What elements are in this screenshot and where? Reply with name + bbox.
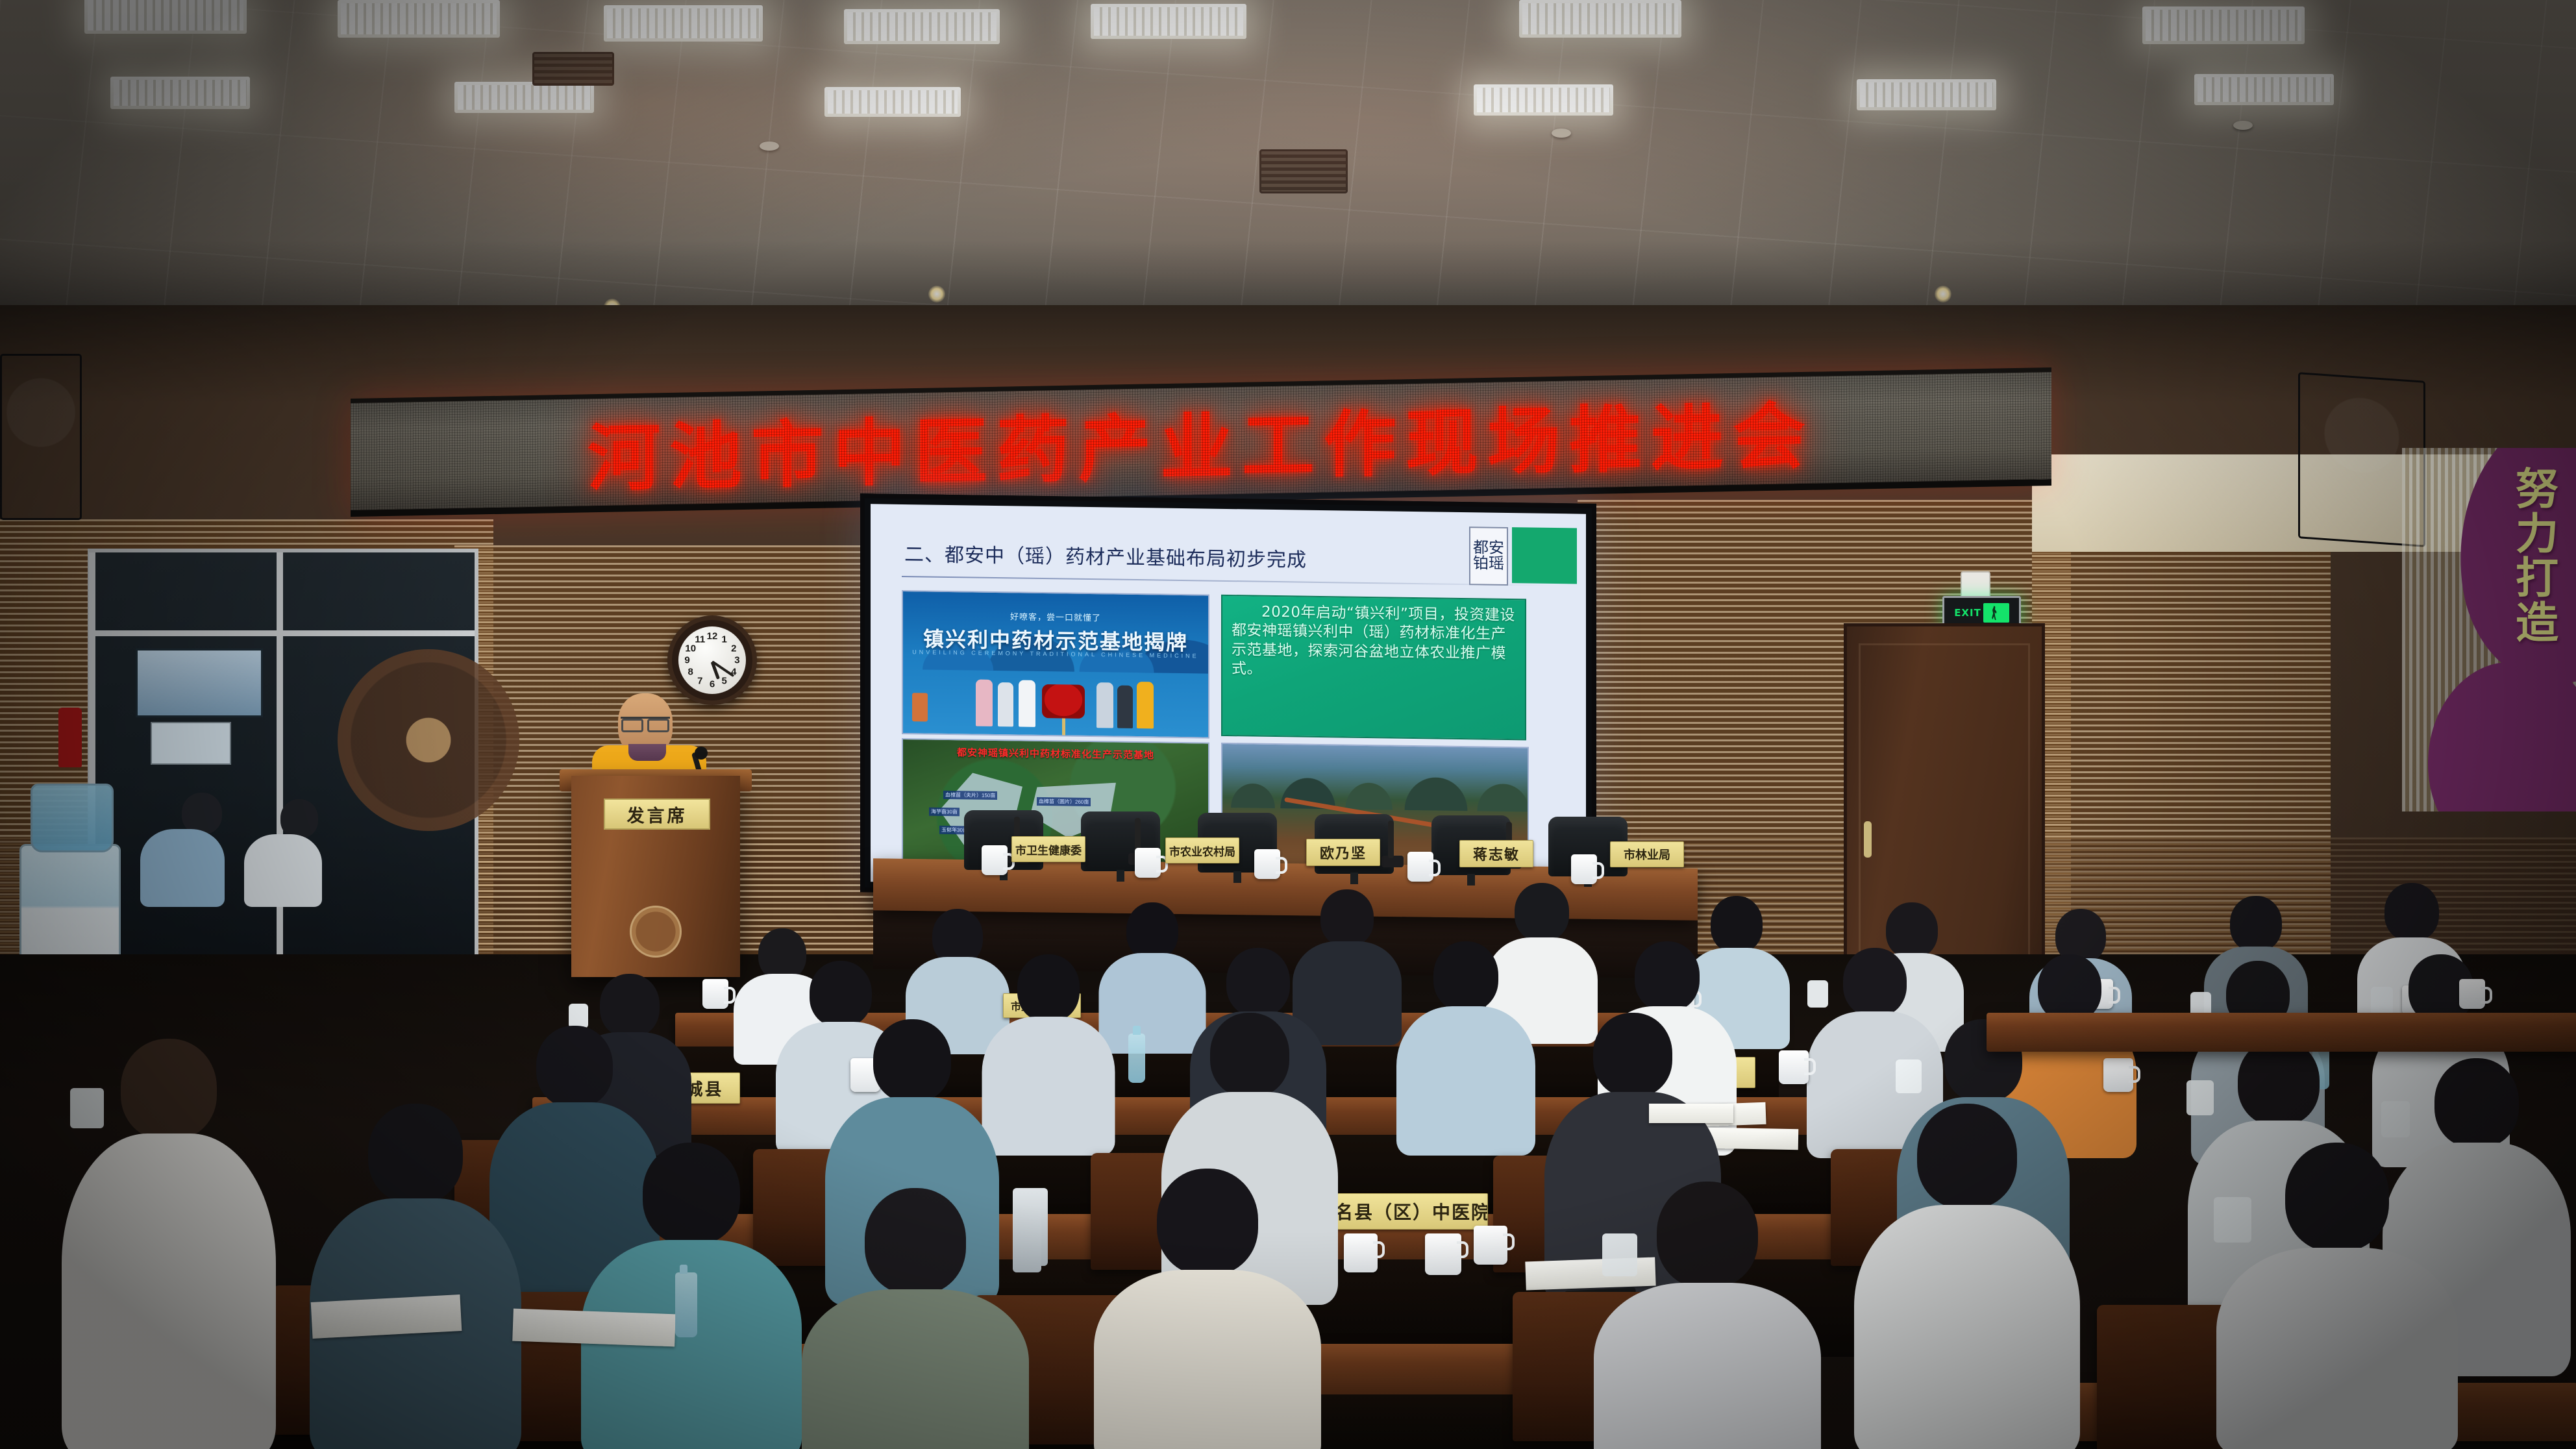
wall-speaker-left	[0, 354, 82, 520]
slide-title: 二、都安中（瑶）药材产业基础布局初步完成	[904, 538, 1443, 575]
audience-mug	[2103, 1058, 2133, 1092]
led-banner-text: 河池市中医药产业工作现场推进会	[351, 373, 2051, 509]
ceremony-person	[1096, 682, 1113, 728]
person-head	[1657, 1182, 1758, 1288]
speaker-collar	[628, 744, 666, 761]
person-head	[873, 1019, 951, 1102]
clock-numeral: 2	[731, 643, 736, 654]
ceiling-light-panel	[338, 0, 500, 38]
head-table-mug	[1407, 852, 1433, 882]
face-mask	[1602, 1233, 1637, 1276]
person-body	[802, 1289, 1029, 1449]
person-head	[1515, 883, 1569, 941]
ceremony-plaque	[1042, 684, 1085, 719]
person-head	[1226, 948, 1290, 1017]
person-head	[1157, 1169, 1258, 1275]
slide-logo: 都安 铂瑶	[1469, 526, 1508, 586]
head-table-mug	[1254, 849, 1280, 879]
audience-mug	[2459, 979, 2485, 1009]
podium-sign: 发言席	[604, 799, 710, 830]
person-head	[2230, 896, 2282, 952]
person-head	[2238, 1039, 2320, 1126]
person-head	[1320, 889, 1374, 947]
head-table-nameplate: 欧乃坚	[1306, 839, 1380, 866]
banner-petal-shape	[2412, 650, 2576, 811]
running-man-icon	[1983, 603, 2009, 623]
ceremony-person	[1019, 680, 1035, 726]
audience-mug	[1344, 1233, 1378, 1272]
smoke-detector-icon	[2233, 121, 2253, 130]
ceiling-light-panel	[1519, 0, 1681, 38]
ceremony-person	[976, 680, 993, 726]
clock-numeral: 10	[685, 643, 696, 654]
person-head	[1210, 1013, 1289, 1097]
person-head	[1126, 902, 1178, 960]
map-tag: 海芋亩30亩	[929, 808, 960, 817]
person-head	[1017, 954, 1080, 1022]
wall-banner-right: 努力打造	[2402, 448, 2576, 811]
face-mask	[2381, 1101, 2410, 1137]
person-head	[280, 799, 318, 838]
head-table-nameplate: 市林业局	[1610, 841, 1684, 867]
person-body	[140, 829, 225, 907]
person-head	[2434, 1058, 2519, 1148]
clock-numeral: 11	[695, 634, 705, 645]
person-head	[1917, 1104, 2017, 1209]
person-head	[121, 1039, 217, 1140]
person-head	[182, 793, 222, 834]
person-head	[2285, 1143, 2389, 1252]
exit-sign-left-text: EXIT	[1954, 607, 1981, 619]
clock-numeral: 3	[734, 655, 739, 666]
wall-clock: 12 1 2 3 4 5 6 7 8 9 10 11	[667, 615, 757, 705]
clock-numeral: 5	[722, 676, 727, 687]
thermos-flask	[1013, 1188, 1041, 1272]
ceiling-light-panel	[454, 82, 594, 113]
smoke-detector-icon	[760, 142, 779, 151]
ceiling-light-panel	[84, 0, 247, 34]
face-mask	[2186, 1080, 2214, 1115]
audience-nameplate: 名县（区）中医院	[1337, 1193, 1488, 1230]
ceiling-light-panel	[1091, 4, 1246, 39]
audience-person-foreground	[65, 1039, 273, 1449]
person-body	[62, 1133, 276, 1449]
person-head	[643, 1143, 740, 1245]
wall-banner-text: 努力打造	[2507, 467, 2567, 646]
water-bottle	[1128, 1034, 1145, 1083]
audience-person-foreground	[1097, 1169, 1318, 1449]
head-table-mug	[1571, 854, 1597, 884]
clock-numeral: 1	[722, 634, 727, 645]
person-body	[982, 1017, 1115, 1156]
air-vent	[532, 52, 614, 86]
clock-face: 12 1 2 3 4 5 6 7 8 9 10 11	[678, 626, 746, 694]
podium-emblem	[630, 906, 682, 958]
ceiling-light-panel	[2142, 6, 2305, 44]
audience-paper	[1649, 1104, 1733, 1123]
podium-microphone-head	[695, 747, 708, 760]
audience-mug	[1474, 1226, 1507, 1265]
ceiling-light-panel	[1857, 79, 1996, 110]
clock-numeral: 7	[697, 676, 702, 687]
ceiling-light-panel	[110, 77, 250, 109]
person-head	[2384, 883, 2439, 941]
person-head	[1843, 948, 1907, 1017]
audience-mug	[1779, 1050, 1809, 1084]
clock-numeral: 12	[707, 630, 718, 641]
map-photo-label: 都安神瑶镇兴利中药材标准化生产示范基地	[903, 745, 1208, 763]
ceremony-podium	[912, 693, 928, 721]
conference-room-photo: 河池市中医药产业工作现场推进会 二、都安中（瑶）药材产业基础布局初步完成 都安 …	[0, 0, 2576, 1449]
clock-numeral: 9	[684, 655, 689, 666]
fire-extinguisher	[58, 708, 82, 767]
audience-paper	[512, 1309, 676, 1347]
face-mask	[70, 1088, 104, 1128]
face-mask	[1807, 980, 1828, 1008]
face-mask	[569, 1004, 588, 1028]
ceremony-person	[1117, 686, 1133, 728]
clock-numeral: 8	[688, 666, 693, 677]
glasses-icon	[621, 717, 670, 729]
audience-person-foreground	[312, 1104, 519, 1449]
person-head	[368, 1104, 463, 1204]
person-body	[1854, 1205, 2080, 1449]
clock-numeral: 6	[710, 679, 715, 690]
face-mask	[1896, 1059, 1922, 1093]
slide-green-callout: 2020年启动“镇兴利”项目，投资建设都安神瑶镇兴利中（瑶）药材标准化生产示范基…	[1221, 595, 1526, 741]
audience-mug	[702, 979, 728, 1009]
ceremony-person	[998, 682, 1013, 726]
person-head	[1433, 941, 1498, 1011]
ceremony-person	[1137, 682, 1154, 728]
slide-logo-bottom-text: 铂瑶	[1473, 556, 1504, 572]
head-table-mug	[982, 845, 1008, 875]
wall-notice-board	[151, 722, 231, 765]
person-body	[2216, 1248, 2458, 1449]
audience-person	[987, 954, 1110, 1156]
person-body	[1094, 1270, 1321, 1449]
person-head	[865, 1188, 966, 1294]
smoke-detector-icon	[1552, 129, 1571, 138]
wall-emblem-inner	[390, 701, 467, 779]
side-table-right	[1987, 1013, 2576, 1052]
audience-person-foreground	[2220, 1143, 2454, 1449]
air-vent	[1259, 149, 1348, 193]
booth-monitor	[136, 649, 263, 717]
head-table-nameplate: 市农业农村局	[1165, 837, 1239, 863]
ceiling-light-panel	[2194, 74, 2334, 105]
slide-green-callout-text: 2020年启动“镇兴利”项目，投资建设都安神瑶镇兴利中（瑶）药材标准化生产示范基…	[1232, 602, 1516, 683]
door-handle[interactable]	[1864, 821, 1872, 858]
slide-photo-ceremony: 好嘹客，尝一口就懂了 镇兴利中药材示范基地揭牌 UNVEILING CEREMO…	[902, 590, 1209, 739]
audience-mug	[1425, 1233, 1461, 1275]
ceiling-light-panel	[844, 9, 1000, 44]
head-table-mug	[1135, 848, 1161, 878]
ceiling-light-panel	[1474, 84, 1613, 116]
ceiling-light-panel	[604, 5, 763, 42]
booth-mullion	[92, 630, 475, 636]
microphone	[1388, 821, 1394, 858]
person-body	[244, 834, 322, 907]
audience-paper	[1707, 1128, 1799, 1150]
wall-socket	[1961, 571, 1990, 599]
person-head	[810, 961, 872, 1027]
head-table-nameplate: 市卫生健康委	[1011, 836, 1085, 862]
audience-person-foreground	[805, 1188, 1026, 1449]
audience-person-foreground	[1597, 1182, 1818, 1449]
face-mask	[2214, 1197, 2251, 1243]
slide-logo-green-block	[1512, 527, 1577, 584]
person-head	[1635, 941, 1700, 1011]
slide-title-rule	[902, 576, 1552, 586]
map-tag: 血樟苗（夫片）150亩	[943, 791, 997, 800]
map-tag: 血樟苗（圆片）260亩	[1037, 797, 1091, 806]
person-head	[1593, 1013, 1672, 1097]
ceiling-light-panel	[824, 87, 961, 117]
head-table-nameplate: 蒋志敏	[1459, 840, 1533, 867]
person-head	[536, 1026, 613, 1108]
water-bottle	[675, 1272, 697, 1337]
audience-person	[1402, 941, 1529, 1156]
face-mask	[2371, 987, 2393, 1015]
person-head	[2038, 954, 2101, 1022]
slide-logo-top-text: 都安	[1473, 540, 1504, 556]
audience-person-foreground	[1857, 1104, 2077, 1449]
person-body	[1594, 1283, 1821, 1449]
person-body	[1396, 1006, 1535, 1156]
aerial-karst-hills	[1222, 752, 1528, 812]
